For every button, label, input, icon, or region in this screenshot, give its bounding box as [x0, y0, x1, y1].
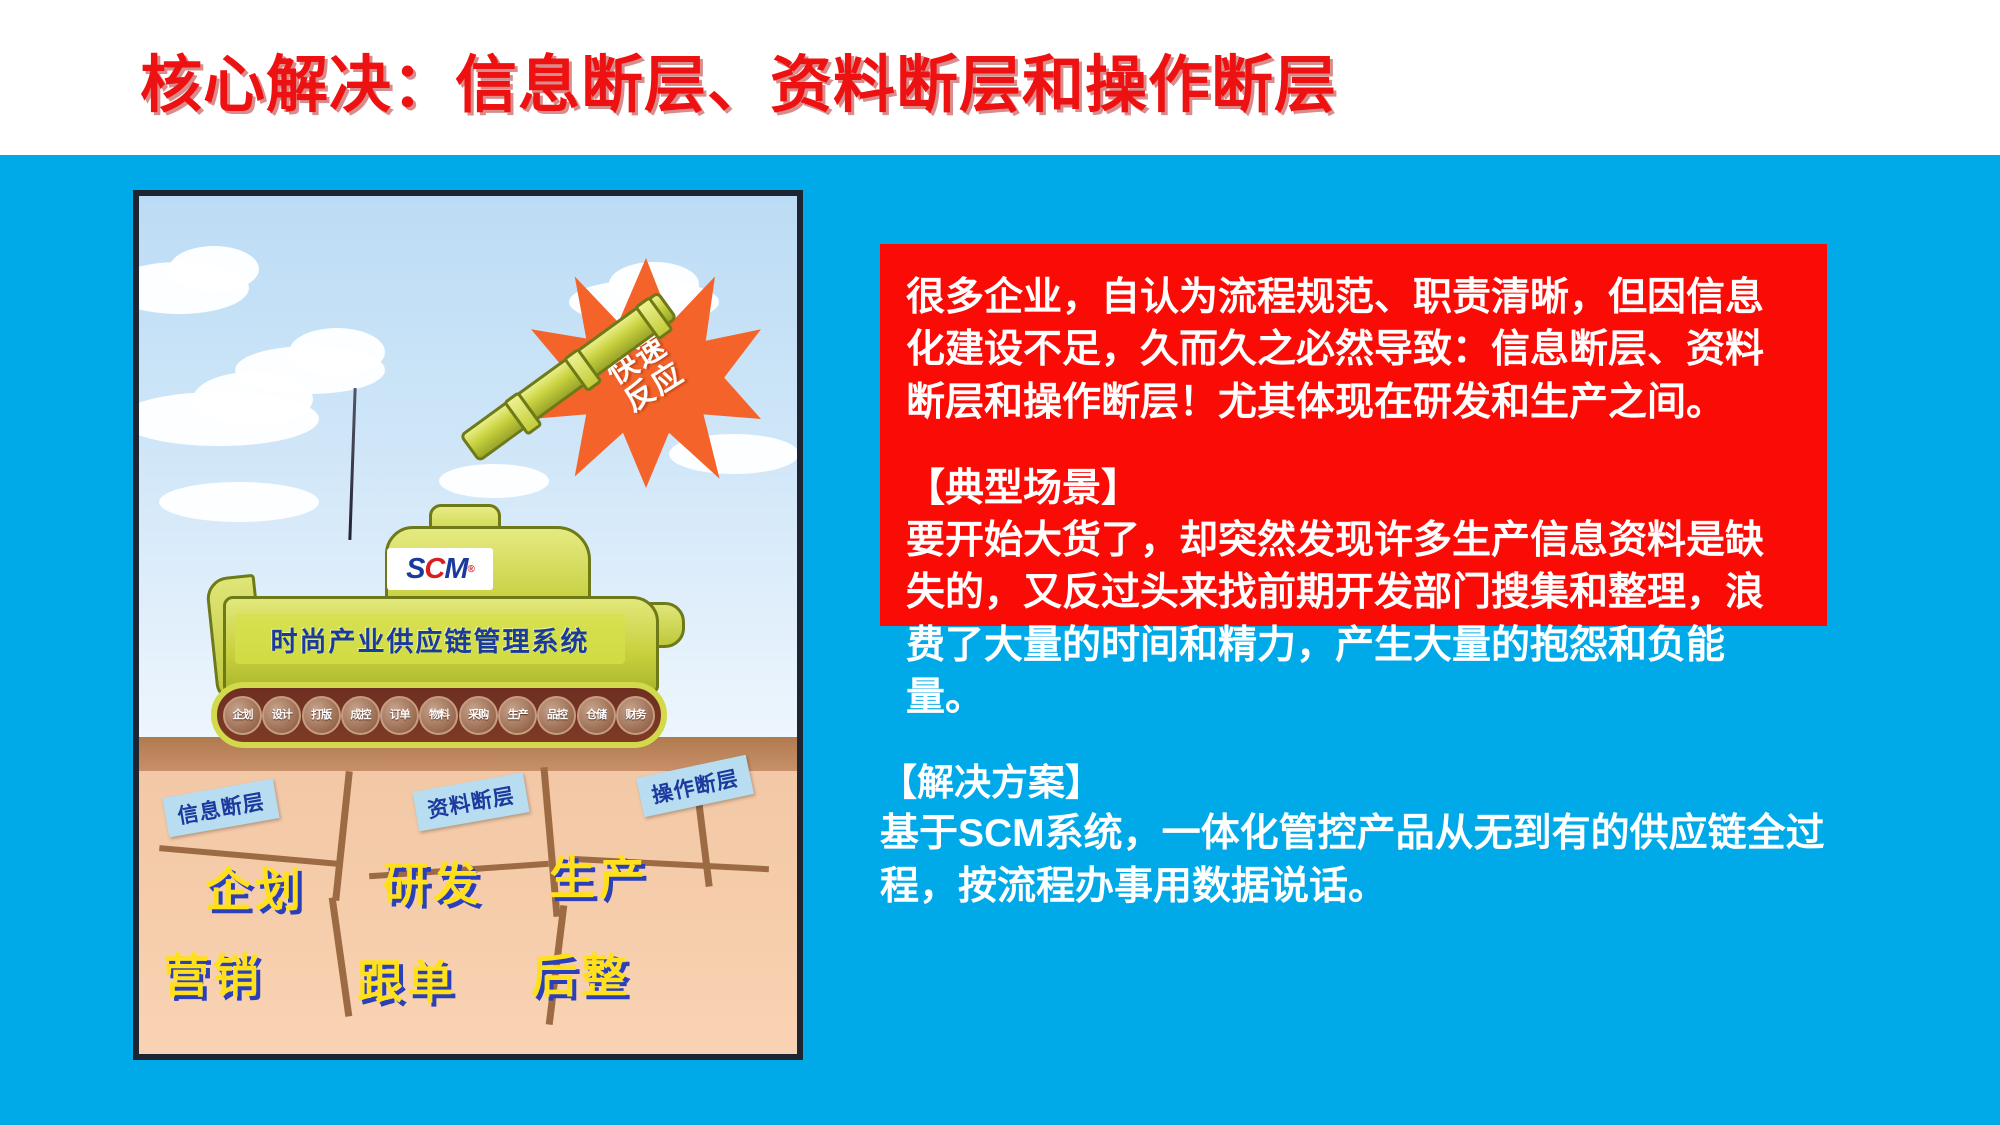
- ground-word-production: 生产: [549, 842, 649, 908]
- typical-scene-heading: 【典型场景】: [906, 463, 1801, 515]
- barrel-ring: [563, 347, 603, 392]
- tank-wheel-label: 财务: [616, 696, 655, 735]
- solution-heading: 【解决方案】: [880, 758, 1840, 808]
- problem-callout-box: 很多企业，自认为流程规范、职责清晰，但因信息化建设不足，久而久之必然导致：信息断…: [880, 244, 1827, 626]
- solution-body: 基于SCM系统，一体化管控产品从无到有的供应链全过程，按流程办事用数据说话。: [880, 808, 1840, 913]
- typical-scene-block: 【典型场景】 要开始大货了，却突然发现许多生产信息资料是缺失的，又反过头来找前期…: [906, 463, 1801, 724]
- tank-antenna: [348, 388, 356, 540]
- tank-wheel-label: 企划: [223, 696, 262, 735]
- scm-logo-s: S: [406, 553, 424, 586]
- tank-wheel-label: 采购: [459, 696, 498, 735]
- tank-wheel-label: 打版: [302, 696, 341, 735]
- tank-wheel-label: 生产: [498, 696, 537, 735]
- title-banner: 核心解决：信息断层、资料断层和操作断层: [0, 0, 2000, 155]
- tank-wheel-label: 品控: [537, 696, 576, 735]
- tank-body-text: 时尚产业供应链管理系统: [271, 620, 590, 659]
- ground-word-merchandising: 跟单: [357, 946, 457, 1012]
- problem-paragraph: 很多企业，自认为流程规范、职责清晰，但因信息化建设不足，久而久之必然导致：信息断…: [906, 272, 1801, 429]
- typical-scene-body: 要开始大货了，却突然发现许多生产信息资料是缺失的，又反过头来找前期开发部门搜集和…: [906, 515, 1801, 724]
- tank-wheel-label: 仓储: [577, 696, 616, 735]
- ground-word-marketing: 营销: [163, 940, 263, 1006]
- tank-wheel-label: 订单: [380, 696, 419, 735]
- tank-illustration: SCM® 时尚产业供应链管理系统 企划设计打版成控订单物料采购生产品控仓储财务: [139, 196, 797, 1054]
- barrel-ring: [634, 296, 674, 341]
- ground-word-rnd: 研发: [383, 848, 483, 914]
- tank-wheel-label: 成控: [341, 696, 380, 735]
- tank-wheel-label: 物料: [419, 696, 458, 735]
- page-title: 核心解决：信息断层、资料断层和操作断层: [140, 34, 1337, 124]
- tank-hull-band: 时尚产业供应链管理系统: [235, 614, 625, 664]
- tank-wheel-label: 设计: [262, 696, 301, 735]
- slide-root: 核心解决：信息断层、资料断层和操作断层 快速 反应: [0, 0, 2000, 1125]
- barrel-ring: [503, 391, 543, 436]
- illustration-panel: 快速 反应: [133, 190, 803, 1060]
- tank-barrel: [459, 291, 678, 463]
- solution-block: 【解决方案】 基于SCM系统，一体化管控产品从无到有的供应链全过程，按流程办事用…: [880, 758, 1840, 913]
- scm-logo-c: C: [424, 553, 444, 586]
- scm-logo-m: M: [444, 553, 467, 586]
- tank-track: 企划设计打版成控订单物料采购生产品控仓储财务: [211, 682, 667, 748]
- ground-word-finishing: 后整: [531, 940, 631, 1006]
- ground-word-planning: 企划: [205, 854, 305, 920]
- scm-logo: SCM®: [387, 548, 493, 590]
- scm-logo-registered: ®: [468, 564, 474, 575]
